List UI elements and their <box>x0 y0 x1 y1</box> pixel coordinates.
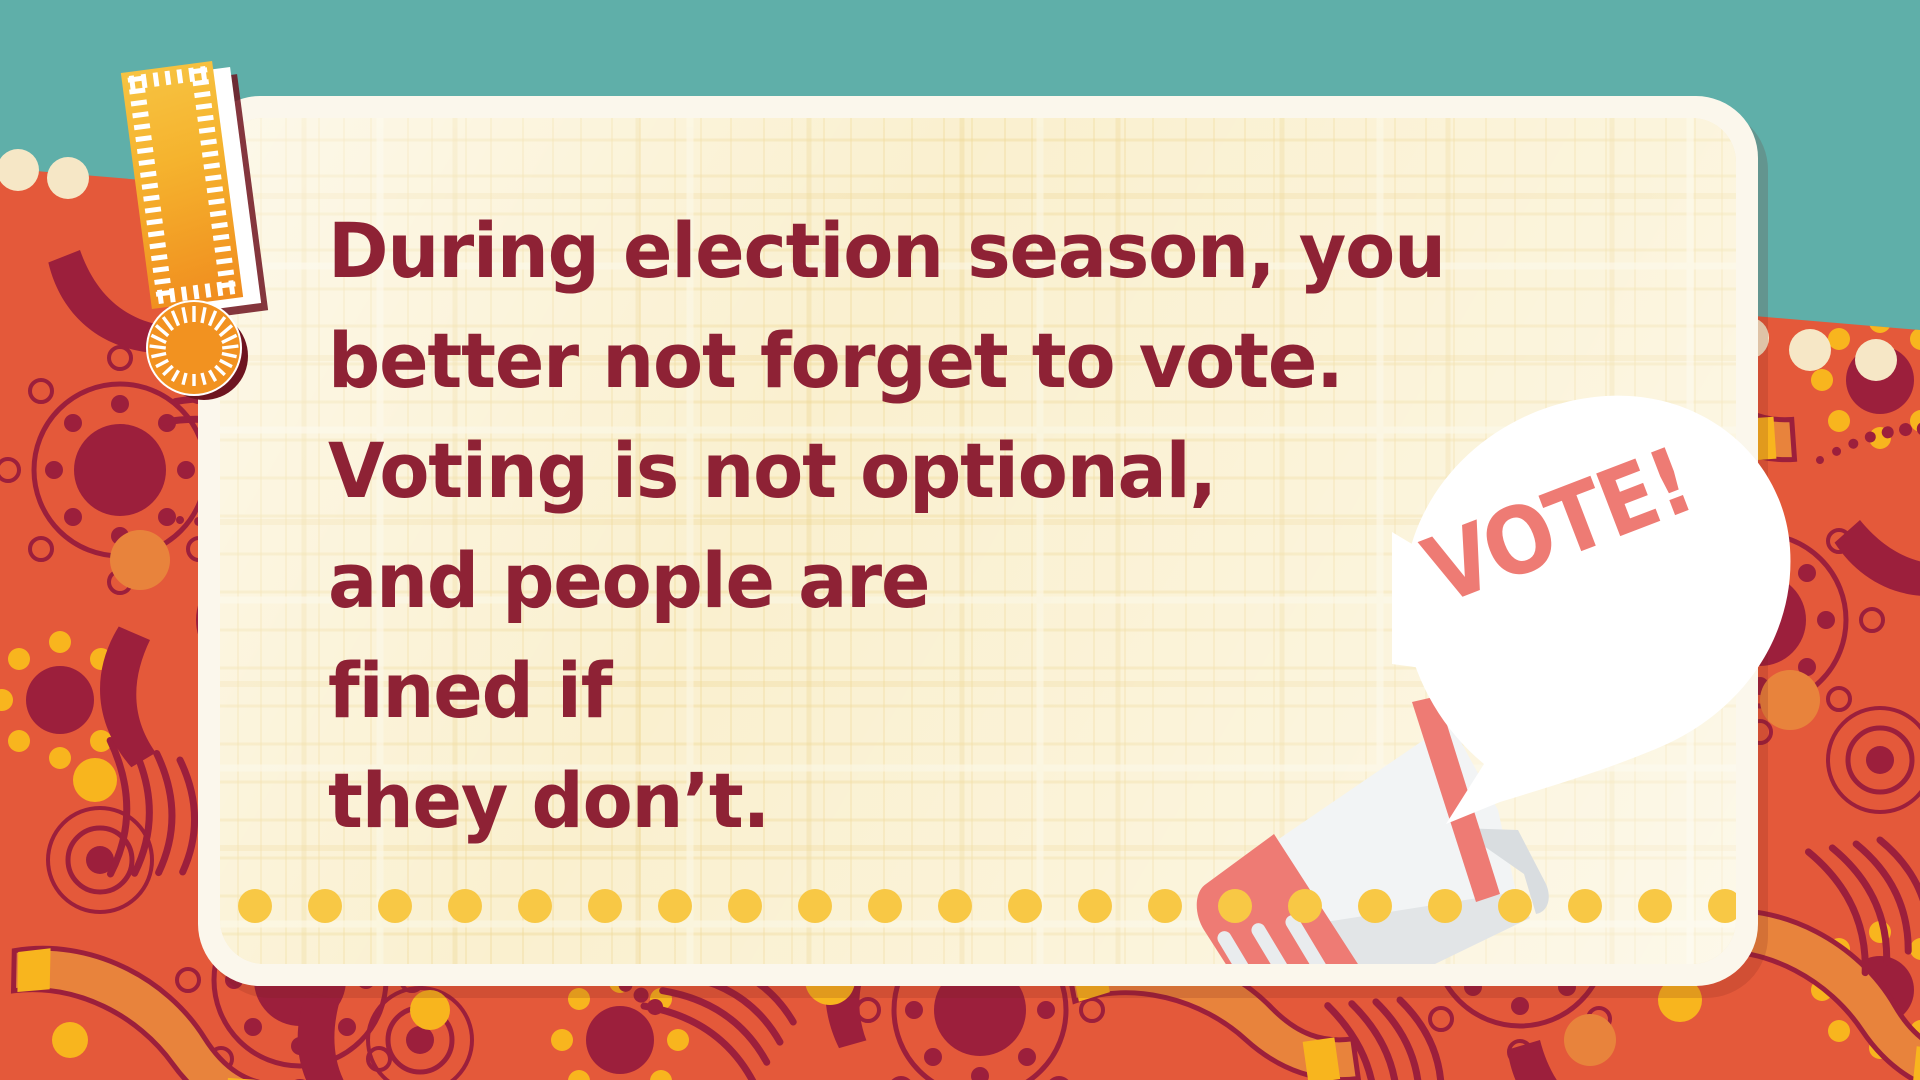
sunburst-dot-icon <box>146 300 242 396</box>
exclamation-dot <box>144 300 248 404</box>
strip-dot <box>728 889 762 923</box>
strip-dot <box>378 889 412 923</box>
strip-dot <box>1148 889 1182 923</box>
strip-dot <box>1638 889 1672 923</box>
strip-dot <box>798 889 832 923</box>
strip-dot <box>1358 889 1392 923</box>
strip-dot <box>1218 889 1252 923</box>
speech-bubble-icon: VOTE! <box>1392 372 1792 872</box>
exclamation-mark <box>128 62 268 322</box>
strip-dot <box>308 889 342 923</box>
strip-dot <box>658 889 692 923</box>
strip-dot <box>938 889 972 923</box>
poster-canvas: During election season, you better not f… <box>0 0 1920 1080</box>
dot-strip <box>220 886 1736 926</box>
strip-dot <box>1708 889 1736 923</box>
strip-dot <box>518 889 552 923</box>
strip-dot <box>1288 889 1322 923</box>
strip-dot <box>588 889 622 923</box>
strip-dot <box>1568 889 1602 923</box>
strip-dot <box>1078 889 1112 923</box>
strip-dot <box>1008 889 1042 923</box>
strip-dot <box>868 889 902 923</box>
strip-dot <box>448 889 482 923</box>
strip-dot <box>1498 889 1532 923</box>
strip-dot <box>1428 889 1462 923</box>
strip-dot <box>238 889 272 923</box>
